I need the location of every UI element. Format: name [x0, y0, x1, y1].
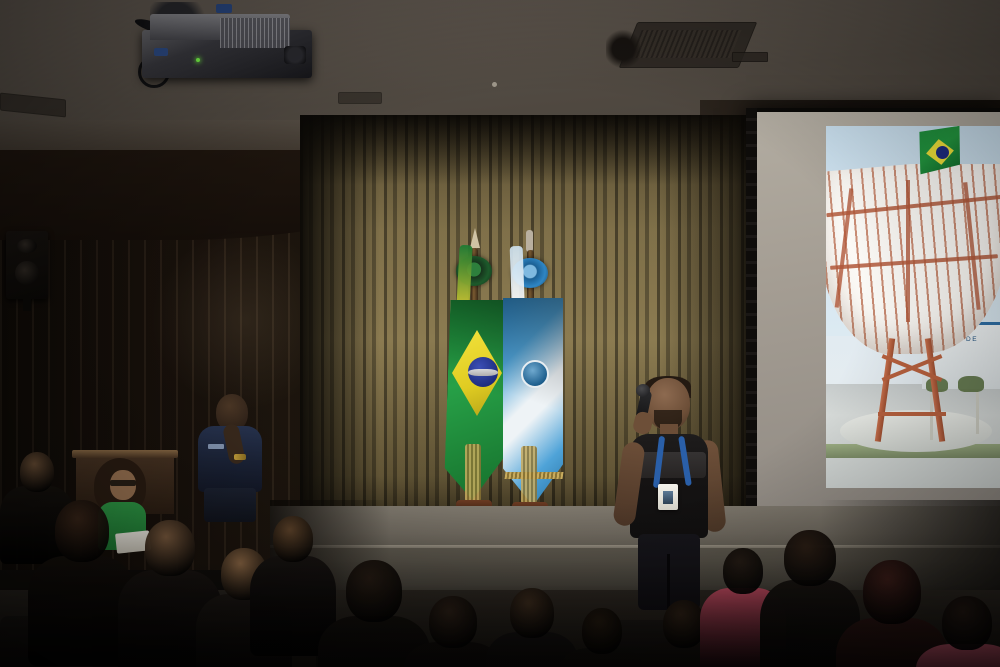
- audience-head: [582, 608, 622, 654]
- audience-head: [942, 596, 992, 650]
- audience: [0, 0, 1000, 667]
- auditorium-photo: PARQUE DE: [0, 0, 1000, 667]
- audience-head: [723, 548, 763, 594]
- audience-member: [560, 608, 644, 667]
- audience-head: [20, 452, 54, 492]
- audience-head: [145, 520, 195, 576]
- audience-head: [273, 516, 313, 562]
- audience-head: [784, 530, 836, 586]
- audience-head: [863, 560, 921, 624]
- audience-head: [346, 560, 402, 622]
- audience-member: [916, 596, 1000, 667]
- audience-head: [510, 588, 554, 638]
- audience-head: [663, 600, 705, 648]
- audience-head: [55, 500, 109, 562]
- audience-head: [429, 596, 477, 648]
